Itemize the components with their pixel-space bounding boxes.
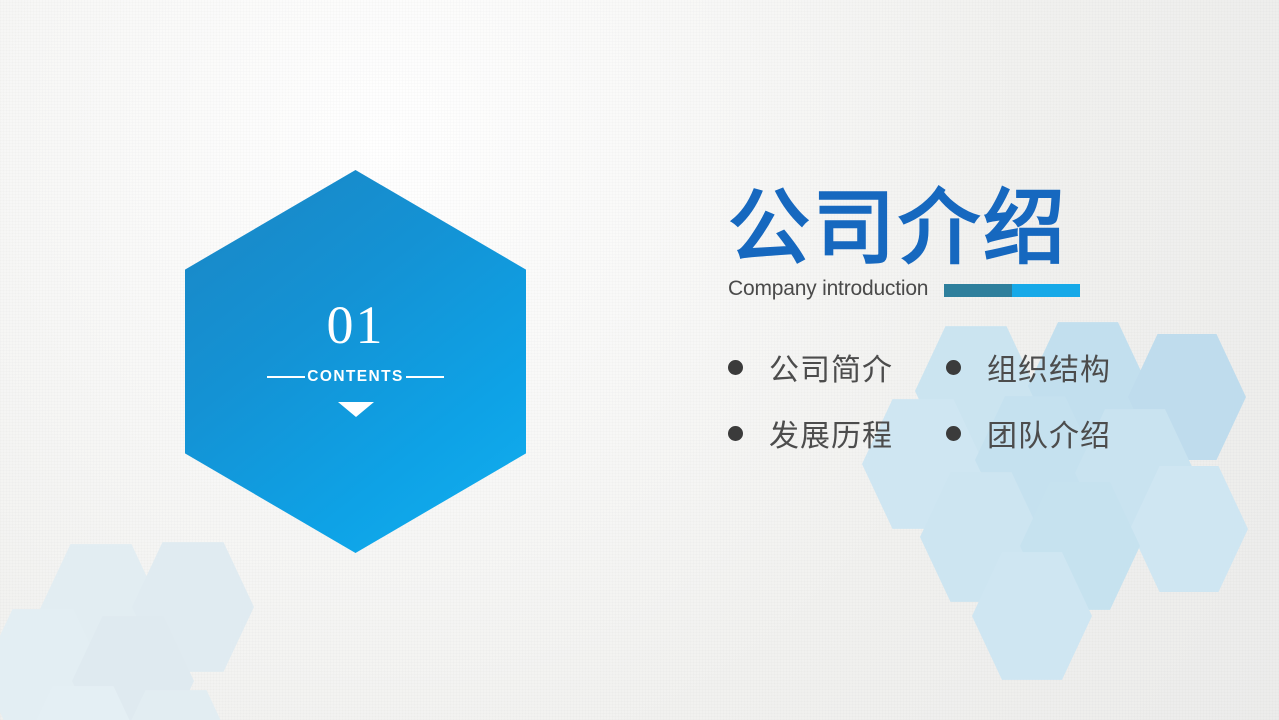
accent-bar-segment-right [1012,284,1080,297]
title-panel: 公司介绍 Company introduction 公司简介 组织结构 发展历程 [728,186,1248,455]
contents-label: CONTENTS [305,368,405,386]
section-number-hexagon[interactable]: 01 CONTENTS [185,170,526,553]
bullet-dot-icon [946,426,961,441]
accent-bar-segment-left [944,284,1012,297]
list-item-label: 组织结构 [987,345,1111,389]
accent-bar [944,284,1080,297]
slide-canvas: 01 CONTENTS 公司介绍 Company introduction 公司… [0,0,1279,720]
page-subtitle: Company introduction [728,277,928,301]
divider-line-left [267,376,305,378]
list-item-label: 公司简介 [769,345,893,389]
divider-line-right [406,376,444,378]
list-item[interactable]: 组织结构 [946,345,1164,389]
contents-divider-row: CONTENTS [185,368,526,386]
triangle-down-icon [338,402,374,417]
bullet-dot-icon [728,426,743,441]
agenda-list: 公司简介 组织结构 发展历程 团队介绍 [728,345,1248,455]
list-item[interactable]: 团队介绍 [946,411,1164,455]
bullet-dot-icon [728,360,743,375]
list-item[interactable]: 公司简介 [728,345,946,389]
list-item-label: 发展历程 [769,411,893,455]
page-title: 公司介绍 [728,186,1248,271]
subtitle-row: Company introduction [728,277,1248,301]
list-item-label: 团队介绍 [987,411,1111,455]
section-number: 01 [327,298,385,352]
list-item[interactable]: 发展历程 [728,411,946,455]
hexagon-content: 01 CONTENTS [185,170,526,553]
bullet-dot-icon [946,360,961,375]
